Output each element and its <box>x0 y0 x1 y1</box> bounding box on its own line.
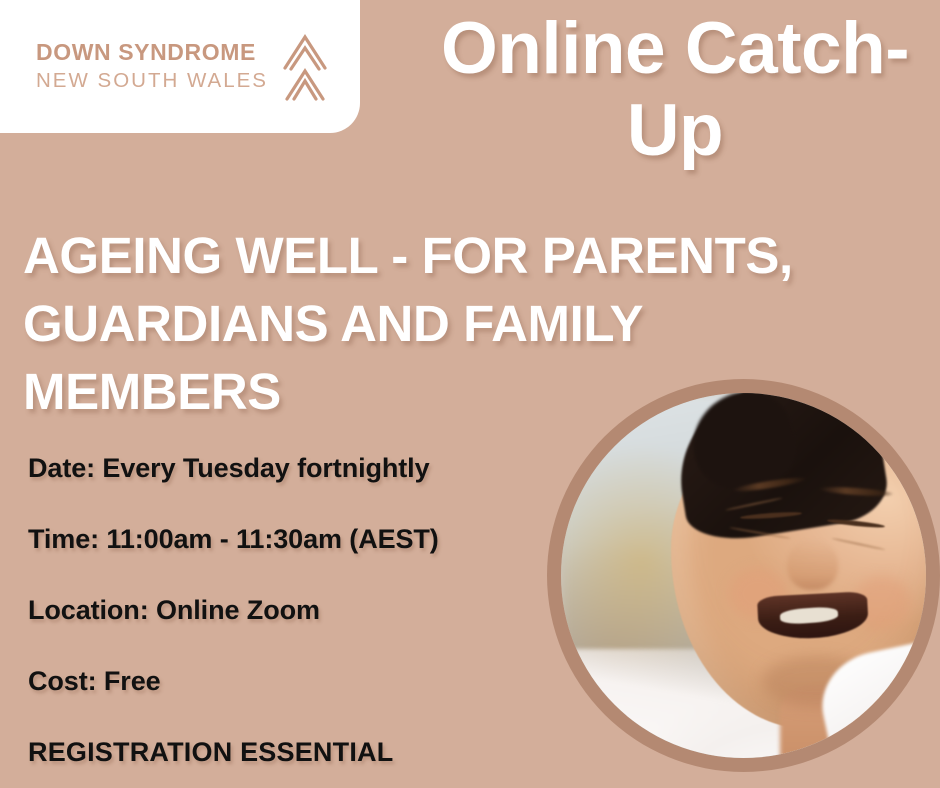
detail-date: Date: Every Tuesday fortnightly <box>28 455 548 482</box>
detail-cost: Cost: Free <box>28 668 548 695</box>
poster-canvas: DOWN SYNDROME NEW SOUTH WALES Online Cat… <box>0 0 940 788</box>
detail-location: Location: Online Zoom <box>28 597 548 624</box>
logo-wordmark: DOWN SYNDROME NEW SOUTH WALES <box>36 41 268 92</box>
logo-line-secondary: NEW SOUTH WALES <box>36 71 268 92</box>
double-chevron-icon <box>282 31 328 103</box>
portrait-ring <box>547 379 940 772</box>
detail-registration-notice: REGISTRATION ESSENTIAL <box>28 739 548 766</box>
portrait-photo <box>561 393 926 758</box>
event-details: Date: Every Tuesday fortnightly Time: 11… <box>28 455 548 766</box>
detail-time: Time: 11:00am - 11:30am (AEST) <box>28 526 548 553</box>
logo-lockup: DOWN SYNDROME NEW SOUTH WALES <box>36 31 328 103</box>
portrait-nose <box>787 539 838 590</box>
page-title: Online Catch-Up <box>430 8 920 173</box>
logo-line-primary: DOWN SYNDROME <box>36 41 256 64</box>
logo-card: DOWN SYNDROME NEW SOUTH WALES <box>0 0 360 133</box>
